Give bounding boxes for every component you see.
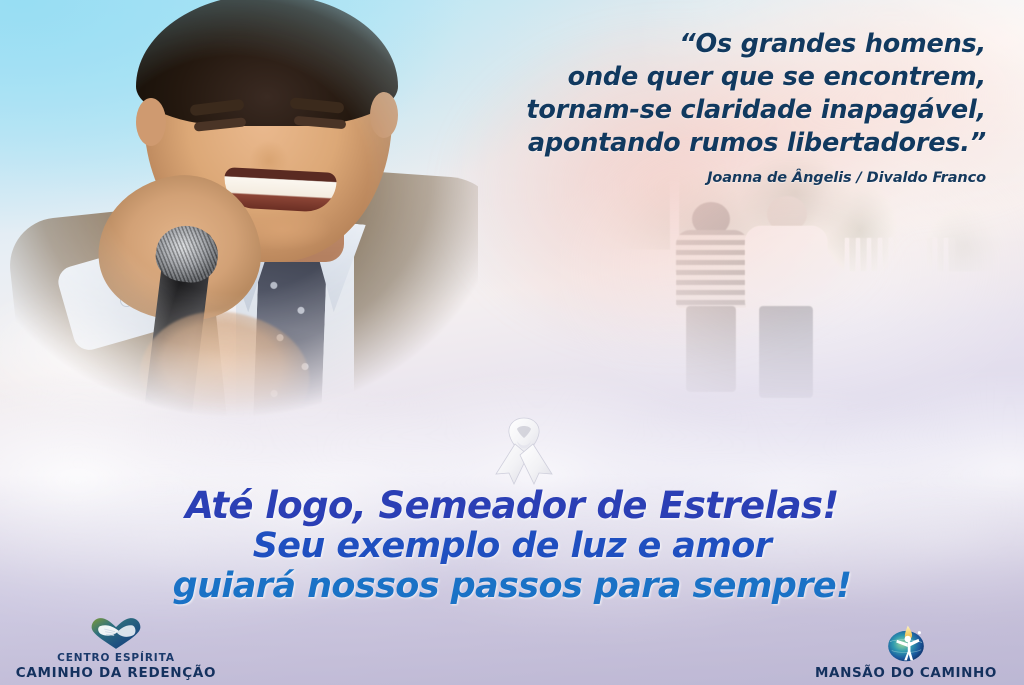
farewell-line-2: Seu exemplo de luz e amor — [0, 526, 1024, 566]
farewell-message: Até logo, Semeador de Estrelas! Seu exem… — [0, 486, 1024, 606]
quote-line-1: “Os grandes homens, — [426, 28, 986, 61]
portrait-photo — [8, 0, 478, 424]
white-ribbon-icon — [484, 411, 564, 487]
logo-left-line-2: CAMINHO DA REDENÇÃO — [6, 665, 226, 681]
logo-mansao-do-caminho: MANSÃO DO CAMINHO — [796, 629, 1016, 681]
farewell-line-1: Até logo, Semeador de Estrelas! — [0, 486, 1024, 526]
quote-line-3: tornam-se claridade inapagável, — [426, 94, 986, 127]
quote-attribution: Joanna de Ângelis / Divaldo Franco — [426, 170, 986, 186]
hair — [136, 0, 398, 126]
quote-line-2: onde quer que se encontrem, — [426, 61, 986, 94]
quote-text: “Os grandes homens, onde quer que se enc… — [426, 28, 986, 160]
quote-line-4: apontando rumos libertadores.” — [426, 127, 986, 160]
memorial-poster: “Os grandes homens, onde quer que se enc… — [0, 0, 1024, 685]
logo-centro-espirita: CENTRO ESPÍRITA CAMINHO DA REDENÇÃO — [6, 616, 226, 681]
logo-right-line-2: MANSÃO DO CAMINHO — [796, 665, 1016, 681]
logo-left-line-1: CENTRO ESPÍRITA — [6, 652, 226, 664]
globe-figure-icon — [796, 629, 1016, 663]
hands-heart-icon — [6, 616, 226, 650]
farewell-line-3: guiará nossos passos para sempre! — [0, 566, 1024, 606]
